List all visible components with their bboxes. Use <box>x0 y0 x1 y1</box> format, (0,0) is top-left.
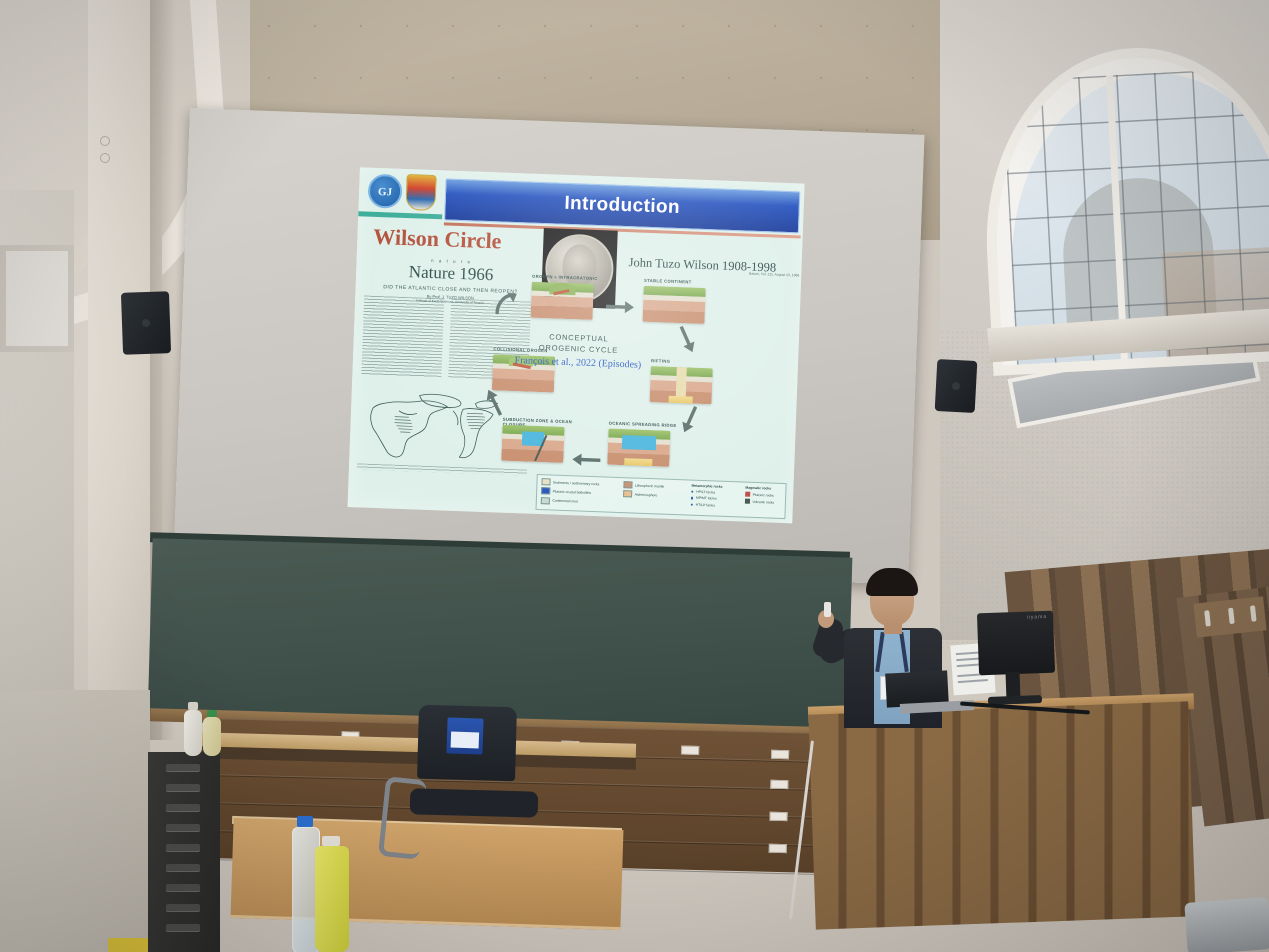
slide-title: Introduction <box>564 193 680 219</box>
paper-column-left <box>361 296 444 379</box>
legend-magmatic: Magmatic rocks Plutonic rocks Volcanic r… <box>745 486 786 508</box>
projection-screen: GJ Introduction Wilson Circle n a t u r … <box>174 108 925 585</box>
slide-legend: Sediments / sedimentary rocks Plutonic c… <box>536 474 787 519</box>
legend-label: Sediments / sedimentary rocks <box>553 480 599 486</box>
legend-label: Lithospheric mantle <box>635 483 665 488</box>
legend-label: Asthenosphere <box>635 492 658 497</box>
wall-speaker-left <box>121 291 171 355</box>
cycle-stage-stable-continent: STABLE CONTINENT <box>642 286 705 324</box>
cycle-arrow <box>673 322 700 356</box>
chair-armrest <box>378 776 427 860</box>
crust-block <box>650 366 713 404</box>
university-roundel-logo: GJ <box>367 174 402 209</box>
office-chair-seat[interactable] <box>410 788 539 817</box>
black-plan-chest[interactable] <box>148 752 220 952</box>
coat-hook-rail <box>1193 596 1266 637</box>
hand-sanitizer-bottle[interactable] <box>182 702 204 756</box>
small-wall-board <box>0 245 74 352</box>
legend-label: Volcanic rocks <box>752 500 774 505</box>
cycle-arrow <box>571 451 602 468</box>
lecture-hall-photo: GJ Introduction Wilson Circle n a t u r … <box>0 0 1269 952</box>
left-lower-panel <box>0 690 150 952</box>
legend-label: HP/LT facies <box>696 490 715 495</box>
cycle-stage-rifting: RIFTING <box>650 366 713 404</box>
heraldic-shield-logo <box>405 174 436 211</box>
crust-block <box>642 286 705 324</box>
cycle-arrow <box>605 298 636 315</box>
legend-label: HT/LP facies <box>696 503 715 508</box>
legend-label: Plutonic rocks <box>753 492 774 497</box>
legend-column-2: Lithospheric mantle Asthenosphere <box>623 481 688 502</box>
yellow-label-bottle[interactable] <box>312 836 354 952</box>
wooden-lectern <box>808 701 1195 929</box>
desktop-monitor[interactable]: iiyama <box>977 611 1055 676</box>
crust-block <box>501 425 564 463</box>
cycle-arrow <box>676 403 703 437</box>
stage-label: STABLE CONTINENT <box>644 278 736 287</box>
cycle-stage-subduction: SUBDUCTION ZONE & OCEAN CLOSURE <box>501 425 564 463</box>
legend-label: Continental crust <box>552 499 578 504</box>
crust-block <box>531 282 594 320</box>
legend-label: MP/MT facies <box>696 496 717 501</box>
cycle-stage-spreading-ridge: OCEANIC SPREADING RIDGE <box>607 429 670 467</box>
speaker-hair <box>866 568 918 596</box>
legend-column-1: Sediments / sedimentary rocks Plutonic c… <box>541 478 618 509</box>
stage-label: RIFTING <box>651 358 743 367</box>
blue-tissue-box[interactable] <box>446 717 483 754</box>
legend-metamorphic: Metamorphic rocks HP/LT facies MP/MT fac… <box>691 484 744 511</box>
yellow-object <box>108 938 148 952</box>
water-bottle[interactable] <box>202 710 222 756</box>
presentation-clicker[interactable] <box>824 602 831 617</box>
cycle-stage-orogen: OROGEN + INTRACRATONIC <box>531 282 594 320</box>
legend-label: Plutonic crustal batholiths <box>553 489 592 494</box>
monitor-brand-label: iiyama <box>1027 614 1048 621</box>
crust-block <box>607 429 670 467</box>
wall-hooks <box>100 136 110 170</box>
legend-header: Metamorphic rocks <box>691 484 743 490</box>
foreground-chair[interactable] <box>1184 897 1269 952</box>
portrait-caption: John Tuzo Wilson 1908-1998 <box>628 255 776 275</box>
legend-header: Magmatic rocks <box>745 486 785 491</box>
projected-slide: GJ Introduction Wilson Circle n a t u r … <box>347 167 804 523</box>
section-heading: Wilson Circle <box>373 224 502 255</box>
wall-speaker-right <box>935 359 978 413</box>
